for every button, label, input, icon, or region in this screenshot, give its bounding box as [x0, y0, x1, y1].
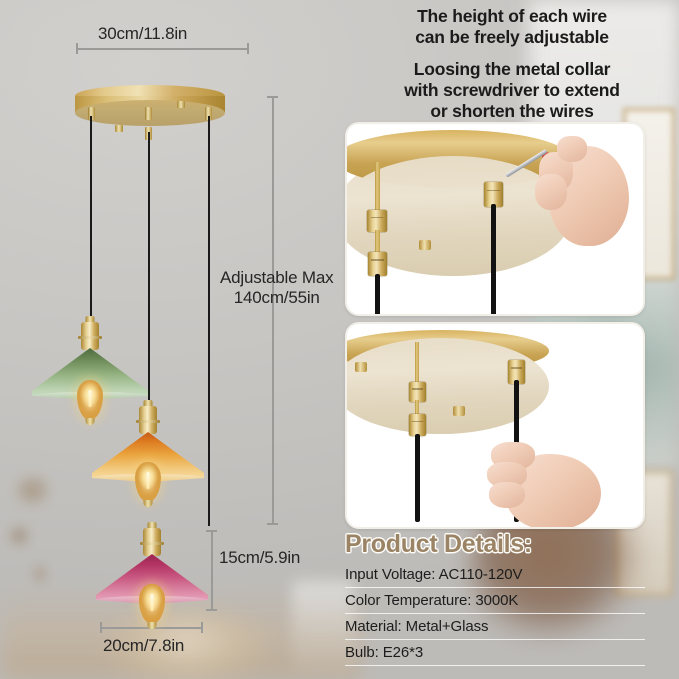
canopy-screw-hole-mid: [453, 406, 465, 416]
green-socket: [81, 322, 99, 350]
spec-row-material: Material: Metal+Glass: [345, 614, 645, 640]
wire-collar-center-upper: [409, 382, 426, 402]
photo-wire-pull: [347, 324, 643, 527]
headline-block-2: Loosing the metal collar with screwdrive…: [352, 59, 672, 121]
panel-hand-wire: [345, 322, 645, 529]
headline-block-1: The height of each wire can be freely ad…: [352, 6, 672, 47]
headline-line-2: can be freely adjustable: [352, 27, 672, 48]
pendant-lamp-amber: [90, 400, 206, 510]
headline-line-1: The height of each wire: [352, 6, 672, 27]
product-details-title: Product Details:: [345, 530, 645, 559]
ceiling-canopy: [75, 85, 225, 129]
spec-row-input-voltage: Input Voltage: AC110-120V: [345, 562, 645, 588]
hand-pulling-wire: [485, 436, 617, 528]
canopy-rod-center: [415, 342, 419, 386]
hand-finger-ring-2: [489, 482, 525, 508]
amber-bulb: [135, 462, 161, 502]
wire-to-green-shade: [90, 116, 92, 324]
canopy-screw-left: [115, 125, 123, 132]
pink-socket: [143, 528, 161, 556]
amber-socket: [139, 406, 157, 434]
wire-collar-center-lower: [409, 414, 426, 436]
wire-collar-left-lower: [368, 252, 387, 276]
wire-to-pink-shade: [208, 116, 210, 526]
headline-line-4: with screwdriver to extend: [352, 80, 672, 101]
panel-screwdriver: [345, 122, 645, 316]
dim-cap-top-left: [76, 43, 78, 54]
spec-row-color-temperature: Color Temperature: 3000K: [345, 588, 645, 614]
dim-cap-vert-bottom: [267, 523, 278, 525]
dim-cap-top-right: [247, 43, 249, 54]
canopy-collar-center: [145, 107, 152, 120]
canopy-screw-hole-left: [355, 362, 367, 372]
photo-screwdriver-adjust: [347, 124, 643, 314]
pendant-lamp-pink: [94, 522, 210, 632]
dim-line-shade-height: [211, 530, 213, 610]
background-branch: [0, 418, 68, 608]
dim-label-shade-height: 15cm/5.9in: [219, 548, 300, 568]
hand-finger-middle: [535, 174, 567, 210]
infographic-root: The height of each wire can be freely ad…: [0, 0, 679, 679]
dim-line-top: [76, 48, 248, 50]
pink-bulb: [139, 584, 165, 624]
dim-label-adjustable: Adjustable Max 140cm/55in: [220, 268, 333, 308]
dim-cap-vert-top: [267, 96, 278, 98]
headline-line-5: or shorten the wires: [352, 101, 672, 122]
hand-with-screwdriver: [533, 138, 637, 250]
canopy-screw-right: [177, 101, 185, 108]
product-details-section: Product Details: Input Voltage: AC110-12…: [345, 530, 645, 666]
dim-label-width-top: 30cm/11.8in: [98, 24, 187, 44]
dim-line-vertical: [272, 96, 274, 524]
canopy-screw-hole: [419, 240, 431, 250]
hanging-wire-center: [415, 434, 420, 522]
dim-label-adjustable-line1: Adjustable Max: [220, 268, 333, 288]
dim-label-shade-width: 20cm/7.8in: [103, 636, 184, 656]
hand-thumb: [557, 136, 587, 162]
dim-label-adjustable-line2: 140cm/55in: [220, 288, 333, 308]
wire-collar-left-upper: [367, 210, 387, 232]
spec-row-bulb: Bulb: E26*3: [345, 640, 645, 666]
headline-line-3: Loosing the metal collar: [352, 59, 672, 80]
hanging-wire-left: [375, 274, 380, 316]
amber-filament: [147, 472, 150, 489]
pink-filament: [151, 594, 154, 611]
hanging-wire-right: [491, 204, 496, 316]
headline-text: The height of each wire can be freely ad…: [352, 6, 672, 121]
